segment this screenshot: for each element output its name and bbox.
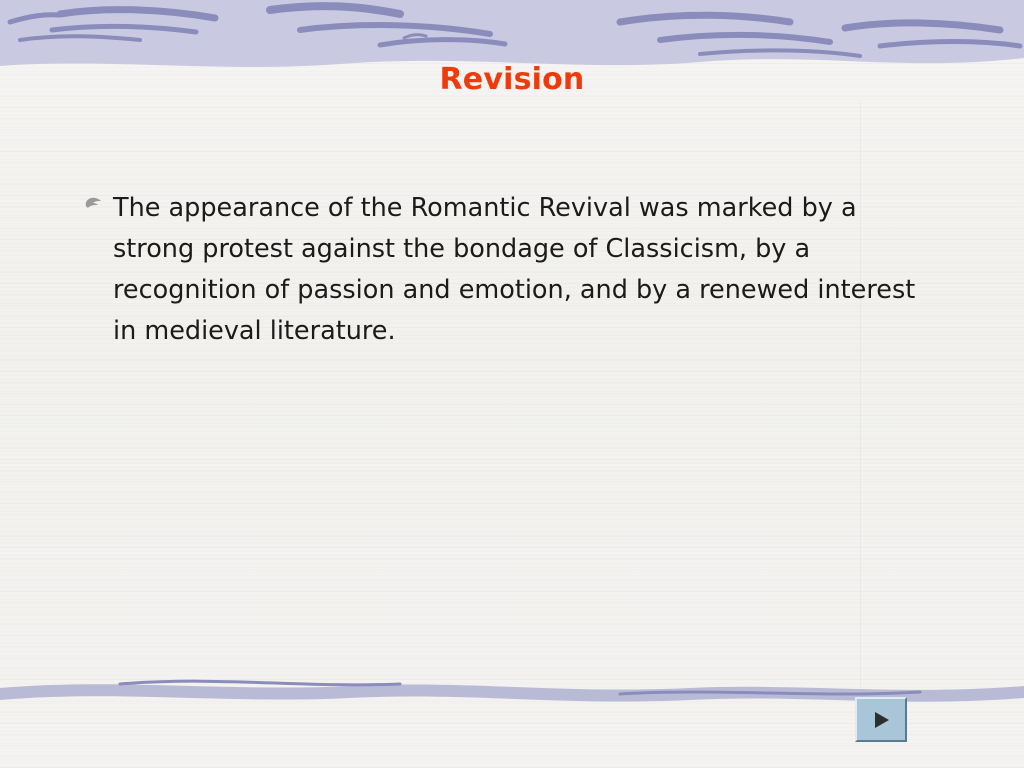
list-item-text: The appearance of the Romantic Revival w… — [113, 188, 943, 352]
page-title: Revision — [0, 62, 1024, 97]
paper-texture-background — [0, 0, 1024, 768]
list-item: The appearance of the Romantic Revival w… — [83, 188, 963, 352]
slide: Revision The appearance of the Romantic … — [0, 0, 1024, 768]
top-decoration-band — [0, 0, 1024, 70]
play-triangle-icon — [870, 709, 892, 731]
next-slide-button[interactable] — [855, 697, 907, 742]
slide-body: The appearance of the Romantic Revival w… — [83, 188, 963, 352]
pointing-hand-bullet-icon — [83, 188, 113, 218]
